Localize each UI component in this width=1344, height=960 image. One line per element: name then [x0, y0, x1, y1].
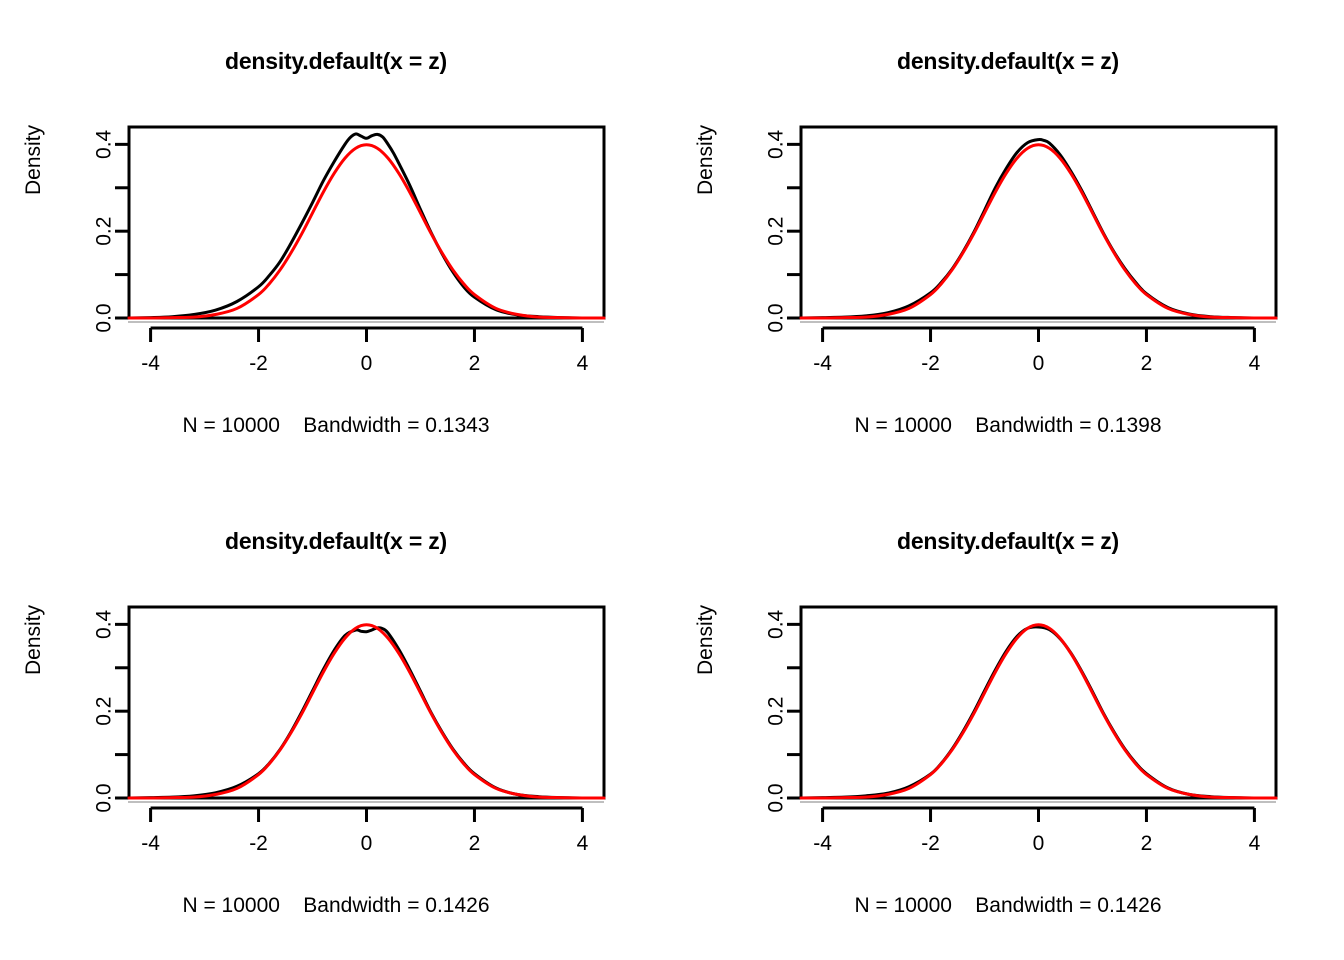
panel-subtitle: N = 10000 Bandwidth = 0.1426 [0, 894, 672, 918]
density-curve [129, 628, 604, 798]
x-tick-label: -4 [813, 832, 832, 855]
plot-box [129, 127, 604, 318]
x-tick-label: 4 [1249, 352, 1261, 375]
x-tick-label: -4 [141, 352, 160, 375]
plot-box [801, 127, 1276, 318]
x-tick-label: 2 [1141, 832, 1153, 855]
x-tick-label: 2 [469, 352, 481, 375]
x-tick-label: 0 [1033, 832, 1045, 855]
x-tick-label: 0 [361, 832, 373, 855]
y-tick-label: 0.4 [765, 129, 788, 159]
density-curve [801, 625, 1276, 798]
y-tick-label: 0.4 [765, 609, 788, 639]
y-tick-label: 0.0 [93, 303, 116, 332]
x-tick-label: 0 [1033, 352, 1045, 375]
density-curve [801, 145, 1276, 318]
y-tick-label: 0.2 [93, 697, 116, 726]
density-panel: density.default(x = z) Density 0.00.20.4… [0, 480, 672, 960]
plot-area: 0.00.20.4-4-2024 [672, 480, 1344, 960]
density-curve [801, 627, 1276, 798]
x-tick-label: -2 [249, 832, 268, 855]
y-tick-label: 0.4 [93, 129, 116, 159]
y-tick-label: 0.0 [765, 783, 788, 812]
x-tick-label: 2 [469, 832, 481, 855]
x-tick-label: -2 [921, 352, 940, 375]
y-tick-label: 0.2 [765, 697, 788, 726]
y-tick-label: 0.2 [765, 217, 788, 246]
x-tick-label: -4 [813, 352, 832, 375]
y-tick-label: 0.4 [93, 609, 116, 639]
y-tick-label: 0.0 [93, 783, 116, 812]
density-curve [129, 145, 604, 318]
plot-area: 0.00.20.4-4-2024 [0, 0, 672, 480]
x-tick-label: 4 [577, 832, 589, 855]
density-panel: density.default(x = z) Density 0.00.20.4… [672, 0, 1344, 480]
plot-area: 0.00.20.4-4-2024 [672, 0, 1344, 480]
x-tick-label: 0 [361, 352, 373, 375]
y-tick-label: 0.2 [93, 217, 116, 246]
x-tick-label: 4 [1249, 832, 1261, 855]
x-tick-label: 4 [577, 352, 589, 375]
density-plot-figure: density.default(x = z) Density 0.00.20.4… [0, 0, 1344, 960]
density-panel: density.default(x = z) Density 0.00.20.4… [0, 0, 672, 480]
x-tick-label: -2 [921, 832, 940, 855]
density-curve [801, 139, 1276, 318]
panel-subtitle: N = 10000 Bandwidth = 0.1426 [672, 894, 1344, 918]
panel-subtitle: N = 10000 Bandwidth = 0.1398 [672, 414, 1344, 438]
panel-subtitle: N = 10000 Bandwidth = 0.1343 [0, 414, 672, 438]
x-tick-label: -4 [141, 832, 160, 855]
plot-area: 0.00.20.4-4-2024 [0, 480, 672, 960]
density-curve [129, 625, 604, 798]
plot-box [801, 607, 1276, 798]
x-tick-label: -2 [249, 352, 268, 375]
plot-box [129, 607, 604, 798]
density-panel: density.default(x = z) Density 0.00.20.4… [672, 480, 1344, 960]
x-tick-label: 2 [1141, 352, 1153, 375]
y-tick-label: 0.0 [765, 303, 788, 332]
density-curve [129, 134, 604, 318]
